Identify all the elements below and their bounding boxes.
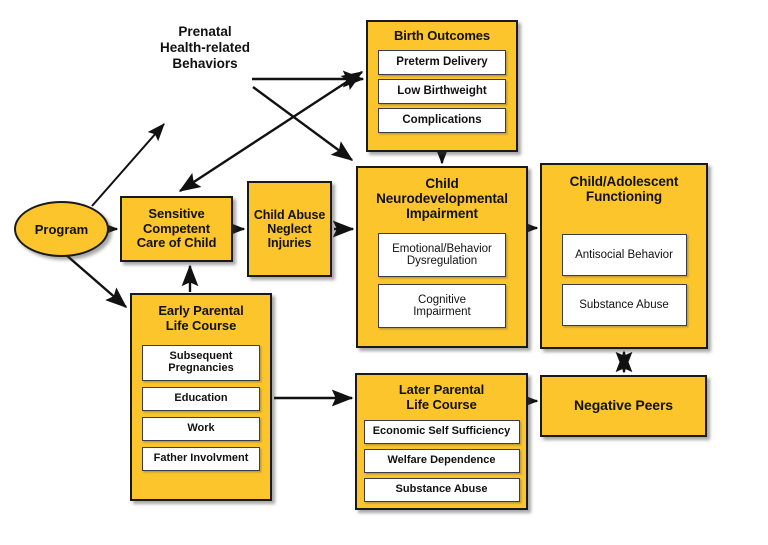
child-neuro-item-1-line-0: Cognitive bbox=[418, 294, 466, 306]
edge-sensitive-care-birth-outcomes bbox=[180, 72, 362, 191]
sensitive-care-line-2: Competent bbox=[143, 222, 210, 237]
node-negative-peers[interactable]: Negative Peers bbox=[540, 375, 707, 437]
node-child-adolescent-functioning[interactable]: Child/Adolescent Functioning Antisocial … bbox=[540, 163, 708, 349]
node-child-abuse-neglect-injuries[interactable]: Child Abuse Neglect Injuries bbox=[247, 181, 332, 277]
child-neuro-item-emotional-behavior-dysregulation[interactable]: Emotional/Behavior Dysregulation bbox=[378, 233, 506, 277]
child-abuse-line-3: Injuries bbox=[268, 236, 312, 250]
prenatal-line-2: Health-related bbox=[135, 40, 275, 56]
later-parental-title-line-2: Life Course bbox=[406, 398, 476, 413]
birth-outcomes-item-preterm-delivery[interactable]: Preterm Delivery bbox=[378, 50, 506, 75]
node-later-parental-life-course[interactable]: Later Parental Life Course Economic Self… bbox=[355, 373, 528, 510]
edge-program-to-early-parental bbox=[65, 254, 126, 307]
sensitive-care-line-3: Care of Child bbox=[137, 236, 217, 251]
early-parental-title-line-1: Early Parental bbox=[158, 304, 243, 319]
later-parental-title-line-1: Later Parental bbox=[399, 383, 484, 398]
early-parental-title-line-2: Life Course bbox=[166, 319, 236, 334]
edge-program-to-prenatal bbox=[92, 124, 164, 206]
child-neuro-item-0-line-1: Dysregulation bbox=[407, 255, 477, 267]
prenatal-line-1: Prenatal bbox=[135, 24, 275, 40]
later-parental-item-substance-abuse[interactable]: Substance Abuse bbox=[364, 478, 520, 502]
birth-outcomes-item-low-birthweight[interactable]: Low Birthweight bbox=[378, 79, 506, 104]
child-adolescent-item-antisocial-behavior[interactable]: Antisocial Behavior bbox=[562, 234, 687, 276]
prenatal-line-3: Behaviors bbox=[135, 56, 275, 72]
edge-prenatal-to-child-neuro bbox=[253, 87, 352, 160]
node-prenatal-health-behaviors: Prenatal Health-related Behaviors bbox=[135, 24, 275, 73]
sensitive-care-line-1: Sensitive bbox=[148, 207, 204, 222]
child-neuro-item-cognitive-impairment[interactable]: Cognitive Impairment bbox=[378, 284, 506, 328]
node-birth-outcomes[interactable]: Birth Outcomes Preterm Delivery Low Birt… bbox=[366, 20, 518, 152]
node-early-parental-life-course[interactable]: Early Parental Life Course Subsequent Pr… bbox=[130, 293, 272, 501]
early-parental-item-education[interactable]: Education bbox=[142, 387, 260, 411]
later-parental-item-economic-self-sufficiency[interactable]: Economic Self Sufficiency bbox=[364, 420, 520, 444]
early-parental-item-0-line-1: Pregnancies bbox=[168, 363, 233, 375]
child-adolescent-title-line-2: Functioning bbox=[586, 189, 662, 204]
birth-outcomes-item-complications[interactable]: Complications bbox=[378, 108, 506, 133]
early-parental-item-work[interactable]: Work bbox=[142, 417, 260, 441]
early-parental-item-father-involvement[interactable]: Father Involvment bbox=[142, 447, 260, 471]
node-program[interactable]: Program bbox=[14, 201, 109, 257]
child-abuse-line-2: Neglect bbox=[267, 222, 311, 236]
diagram-canvas: Program Prenatal Health-related Behavior… bbox=[0, 0, 768, 545]
child-adolescent-title-line-1: Child/Adolescent bbox=[570, 174, 679, 189]
node-child-neurodevelopmental-impairment[interactable]: Child Neurodevelopmental Impairment Emot… bbox=[356, 166, 528, 348]
node-program-label: Program bbox=[35, 222, 88, 237]
child-neuro-title-line-3: Impairment bbox=[406, 206, 478, 221]
child-neuro-item-1-line-1: Impairment bbox=[413, 306, 471, 318]
child-neuro-item-0-line-0: Emotional/Behavior bbox=[392, 243, 492, 255]
node-sensitive-competent-care[interactable]: Sensitive Competent Care of Child bbox=[120, 196, 233, 262]
child-adolescent-item-substance-abuse[interactable]: Substance Abuse bbox=[562, 284, 687, 326]
early-parental-item-subsequent-pregnancies[interactable]: Subsequent Pregnancies bbox=[142, 345, 260, 381]
child-abuse-line-1: Child Abuse bbox=[254, 208, 325, 222]
later-parental-item-welfare-dependence[interactable]: Welfare Dependence bbox=[364, 449, 520, 473]
child-neuro-title-line-1: Child bbox=[425, 176, 458, 191]
child-neuro-title-line-2: Neurodevelopmental bbox=[376, 191, 508, 206]
negative-peers-label: Negative Peers bbox=[574, 398, 673, 414]
birth-outcomes-title: Birth Outcomes bbox=[394, 29, 490, 44]
